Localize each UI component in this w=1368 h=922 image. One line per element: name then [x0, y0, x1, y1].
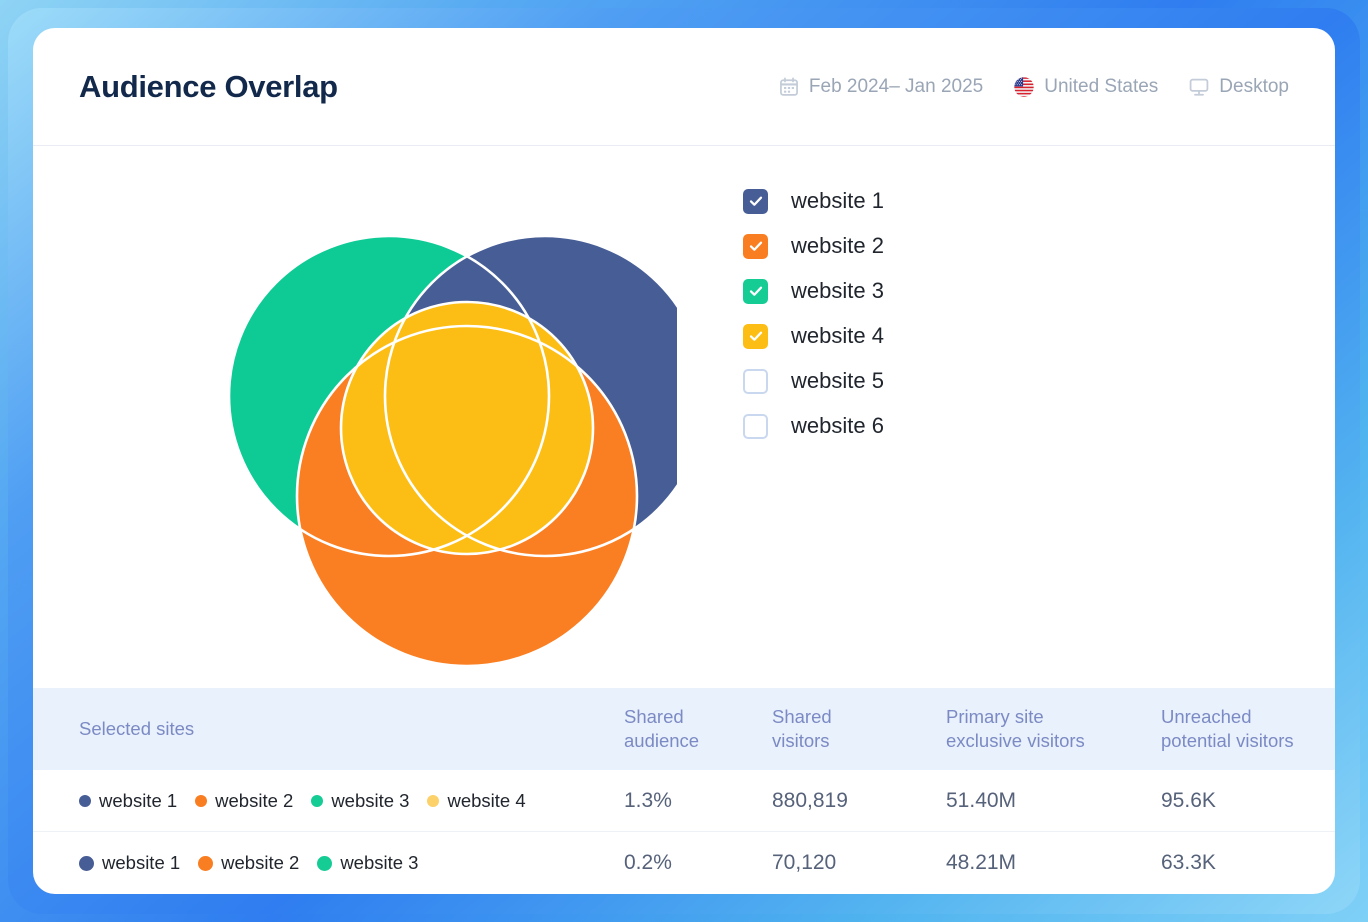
legend-item-website-6[interactable]: website 6: [743, 413, 884, 439]
site-color-dot: [79, 856, 94, 871]
site-name: website 1: [99, 790, 177, 812]
site-name: website 2: [221, 852, 299, 874]
us-flag-icon: [1013, 76, 1035, 98]
venn-diagram[interactable]: [157, 166, 677, 666]
checkbox-website-4[interactable]: [743, 324, 768, 349]
checkbox-website-2[interactable]: [743, 234, 768, 259]
filter-country-label: United States: [1044, 76, 1158, 98]
cell-shared-audience: 1.3%: [624, 789, 772, 813]
cell-primary-exclusive-visitors: 51.40M: [946, 789, 1161, 813]
checkbox-website-3[interactable]: [743, 279, 768, 304]
filter-device-label: Desktop: [1219, 76, 1289, 98]
legend-label-website-3: website 3: [791, 278, 884, 304]
cell-shared-audience: 0.2%: [624, 851, 772, 875]
legend-item-website-1[interactable]: website 1: [743, 188, 884, 214]
checkbox-website-5[interactable]: [743, 369, 768, 394]
checkbox-website-6[interactable]: [743, 414, 768, 439]
cell-shared-visitors: 880,819: [772, 789, 946, 813]
legend-label-website-4: website 4: [791, 323, 884, 349]
legend-item-website-5[interactable]: website 5: [743, 368, 884, 394]
cell-unreached-potential-visitors: 63.3K: [1161, 851, 1335, 875]
site-color-dot: [195, 795, 207, 807]
column-header-shared-visitors: Shared visitors: [772, 705, 946, 752]
page-title: Audience Overlap: [79, 69, 338, 105]
site-chip: website 1: [79, 790, 177, 812]
calendar-icon: [778, 76, 800, 98]
table-header-row: Selected sites Shared audience Shared vi…: [33, 688, 1335, 770]
site-name: website 1: [102, 852, 180, 874]
site-name: website 3: [340, 852, 418, 874]
cell-shared-visitors: 70,120: [772, 851, 946, 875]
filter-date-range[interactable]: Feb 2024– Jan 2025: [778, 76, 983, 98]
legend-item-website-3[interactable]: website 3: [743, 278, 884, 304]
site-color-dot: [198, 856, 213, 871]
site-chip: website 2: [195, 790, 293, 812]
legend-checkbox-list: website 1 website 2 website 3 website 4: [743, 164, 884, 688]
site-chip: website 3: [317, 852, 418, 874]
site-color-dot: [427, 795, 439, 807]
column-header-selected-sites: Selected sites: [79, 717, 624, 741]
filter-date-range-label: Feb 2024– Jan 2025: [809, 76, 983, 98]
desktop-monitor-icon: [1188, 76, 1210, 98]
checkbox-website-1[interactable]: [743, 189, 768, 214]
card-header: Audience Overlap Feb 2024– Jan 202: [33, 28, 1335, 146]
site-color-dot: [311, 795, 323, 807]
filter-country[interactable]: United States: [1013, 76, 1158, 98]
legend-item-website-4[interactable]: website 4: [743, 323, 884, 349]
selected-sites-cell: website 1 website 2 website 3 website 4: [79, 790, 624, 812]
column-header-shared-audience: Shared audience: [624, 705, 772, 752]
site-name: website 3: [331, 790, 409, 812]
legend-label-website-6: website 6: [791, 413, 884, 439]
legend-item-website-2[interactable]: website 2: [743, 233, 884, 259]
site-chip: website 1: [79, 852, 180, 874]
audience-overlap-card: Audience Overlap Feb 2024– Jan 202: [33, 28, 1335, 894]
site-name: website 4: [447, 790, 525, 812]
legend-label-website-5: website 5: [791, 368, 884, 394]
cell-unreached-potential-visitors: 95.6K: [1161, 789, 1335, 813]
column-header-primary-exclusive-visitors: Primary site exclusive visitors: [946, 705, 1161, 752]
site-chip: website 2: [198, 852, 299, 874]
legend-label-website-1: website 1: [791, 188, 884, 214]
venn-diagram-container: [79, 164, 719, 688]
table-row[interactable]: website 1 website 2 website 3 0.2% 70,12…: [33, 832, 1335, 894]
selected-sites-cell: website 1 website 2 website 3: [79, 852, 624, 874]
filter-device[interactable]: Desktop: [1188, 76, 1289, 98]
site-color-dot: [79, 795, 91, 807]
column-header-unreached-potential-visitors: Unreached potential visitors: [1161, 705, 1335, 752]
site-name: website 2: [215, 790, 293, 812]
site-chip: website 3: [311, 790, 409, 812]
site-chip: website 4: [427, 790, 525, 812]
filters-bar: Feb 2024– Jan 2025: [778, 76, 1289, 98]
legend-label-website-2: website 2: [791, 233, 884, 259]
table-row[interactable]: website 1 website 2 website 3 website 4 …: [33, 770, 1335, 832]
overlap-table: Selected sites Shared audience Shared vi…: [33, 688, 1335, 894]
cell-primary-exclusive-visitors: 48.21M: [946, 851, 1161, 875]
card-body: website 1 website 2 website 3 website 4: [33, 146, 1335, 688]
site-color-dot: [317, 856, 332, 871]
